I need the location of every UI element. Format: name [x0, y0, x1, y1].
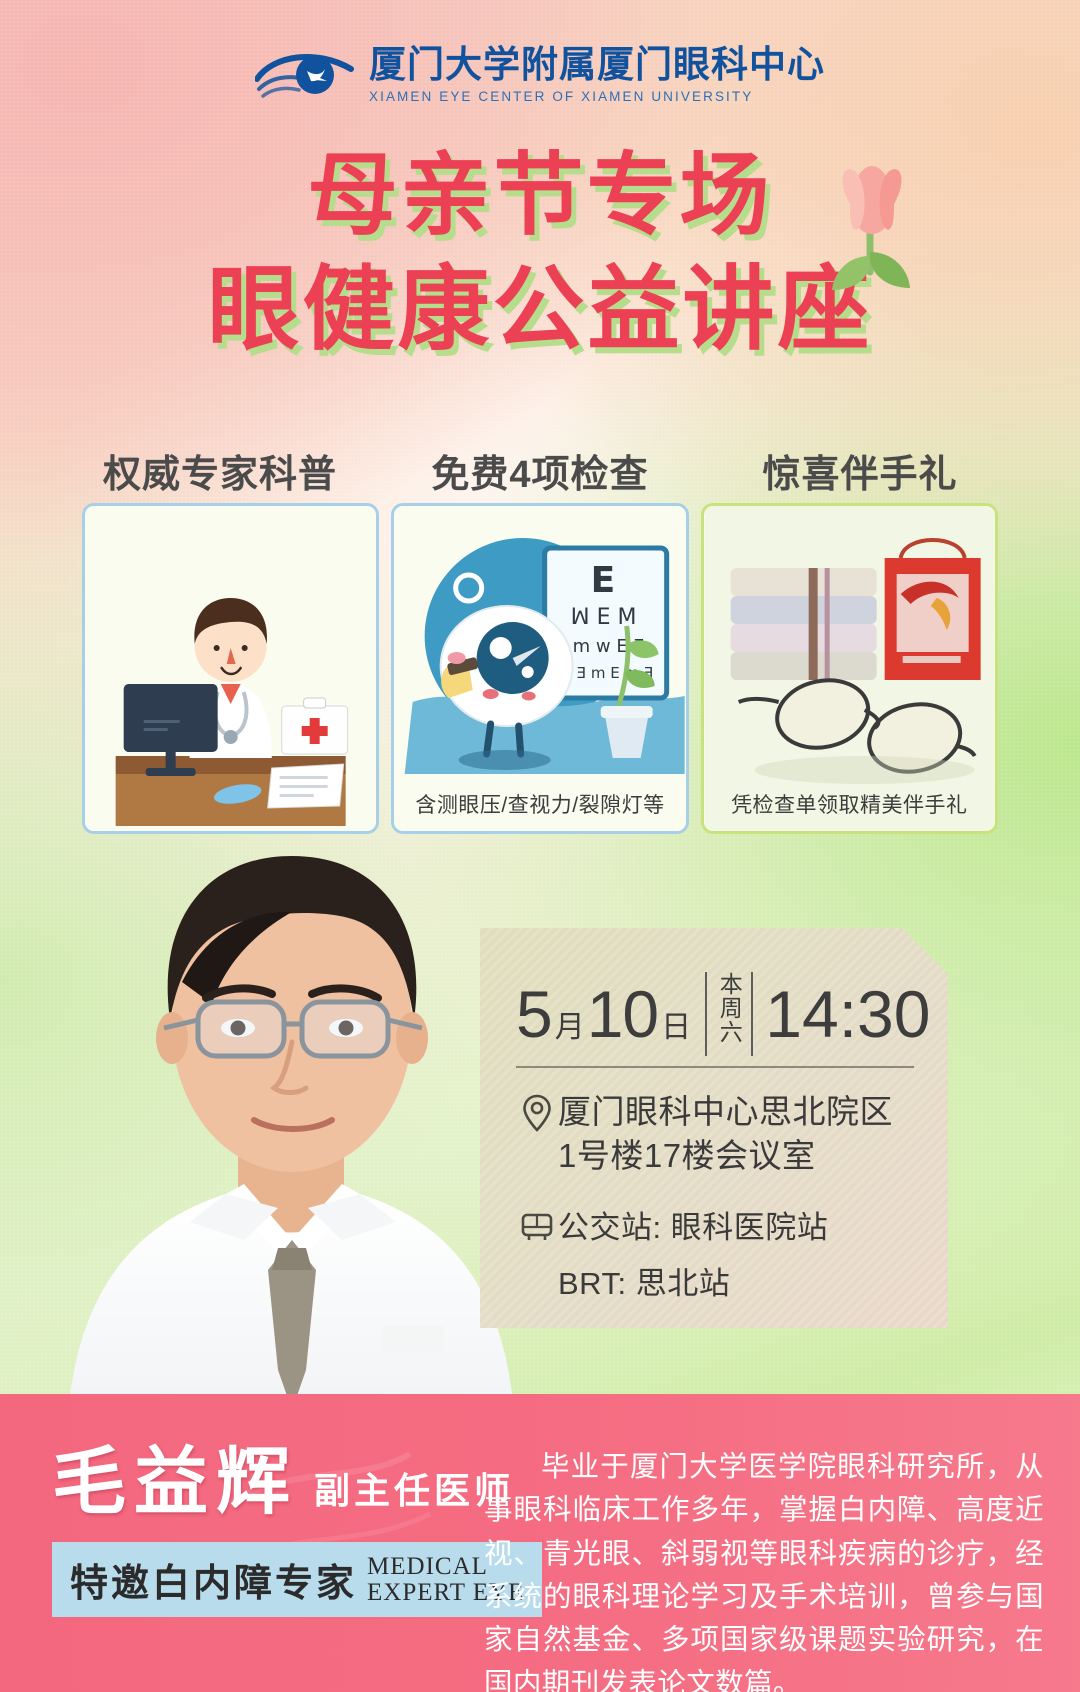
svg-text:E: E: [591, 560, 616, 601]
event-time: 14:30: [765, 981, 930, 1047]
event-info-panel: 5 月 10 日 本周六 14:30 厦门眼科中心思北院区 1号楼17楼会议室: [480, 928, 948, 1328]
event-location-line2: 1号楼17楼会议室: [558, 1137, 816, 1174]
towels-giftbag-glasses-photo: [704, 506, 995, 831]
feature-heading-1: 权威专家科普: [60, 443, 380, 498]
feature-card-consult[interactable]: [82, 503, 379, 834]
poster-title: 母亲节专场 眼健康公益讲座: [0, 140, 1080, 369]
poster-root: 厦门大学附属厦门眼科中心 XIAMEN EYE CENTER OF XIAMEN…: [0, 0, 1080, 1692]
event-month-unit: 月: [555, 1002, 585, 1046]
brand-name-cn: 厦门大学附属厦门眼科中心: [369, 46, 825, 84]
feature-headings: 权威专家科普 免费4项检查 惊喜伴手礼: [60, 443, 1020, 498]
brand-logo: 厦门大学附属厦门眼科中心 XIAMEN EYE CENTER OF XIAMEN…: [0, 46, 1080, 104]
feature-caption-3: 凭检查单领取精美伴手礼: [704, 789, 995, 819]
event-location-line1: 厦门眼科中心思北院区: [558, 1093, 893, 1130]
event-bus: 公交站: 眼科医院站: [516, 1208, 924, 1249]
event-bus-text: 公交站: 眼科医院站: [558, 1208, 828, 1249]
event-month-value: 5: [516, 981, 552, 1047]
doctor-at-desk-illustration: [85, 506, 376, 831]
brand-name-en: XIAMEN EYE CENTER OF XIAMEN UNIVERSITY: [369, 89, 753, 104]
event-day-unit: 日: [661, 1002, 691, 1046]
event-day-value: 10: [587, 981, 658, 1047]
feature-cards: E ꟽ E M m w E Ǝ Ǝ m E m Ǝ: [82, 503, 998, 834]
event-location-text: 厦门眼科中心思北院区 1号楼17楼会议室: [558, 1090, 893, 1177]
info-divider: [516, 1066, 914, 1068]
feature-card-exams[interactable]: E ꟽ E M m w E Ǝ Ǝ m E m Ǝ: [391, 503, 688, 834]
event-location: 厦门眼科中心思北院区 1号楼17楼会议室: [516, 1090, 924, 1177]
brand-text: 厦门大学附属厦门眼科中心 XIAMEN EYE CENTER OF XIAMEN…: [369, 46, 825, 104]
feature-caption-2: 含测眼压/查视力/裂隙灯等: [394, 789, 685, 819]
doctor-specialty-cn: 特邀白内障专家: [70, 1552, 357, 1607]
event-brt: BRT: 思北站: [516, 1264, 924, 1305]
feature-card-gifts[interactable]: 凭检查单领取精美伴手礼: [701, 503, 998, 834]
eye-logo-icon: [255, 49, 355, 101]
eyeball-mascot-eyechart-illustration: E ꟽ E M m w E Ǝ Ǝ m E m Ǝ: [394, 506, 685, 831]
doctor-name: 毛益辉: [52, 1446, 298, 1520]
feature-heading-2: 免费4项检查: [380, 443, 700, 498]
feature-heading-3: 惊喜伴手礼: [700, 443, 1020, 498]
doctor-specialty-badge: 特邀白内障专家 MEDICAL EXPERT EYE: [52, 1542, 542, 1617]
doctor-bio-text: 毕业于厦门大学医学院眼科研究所，从事眼科临床工作多年，掌握白内障、高度近视、青光…: [484, 1446, 1044, 1692]
doctor-specialty-en-line1: MEDICAL: [367, 1553, 488, 1580]
tulip-flower-icon: [812, 160, 932, 310]
event-weekday: 本周六: [705, 972, 753, 1056]
brt-spacer: [516, 1264, 558, 1268]
event-datetime-row: 5 月 10 日 本周六 14:30: [516, 968, 918, 1060]
event-brt-text: BRT: 思北站: [558, 1264, 730, 1305]
doctor-bio-bar: 毛益辉 副主任医师 特邀白内障专家 MEDICAL EXPERT EYE 毕业于…: [0, 1394, 1080, 1692]
location-pin-icon: [516, 1090, 558, 1132]
event-date: 5 月 10 日: [516, 981, 693, 1047]
bus-icon: [516, 1208, 558, 1242]
